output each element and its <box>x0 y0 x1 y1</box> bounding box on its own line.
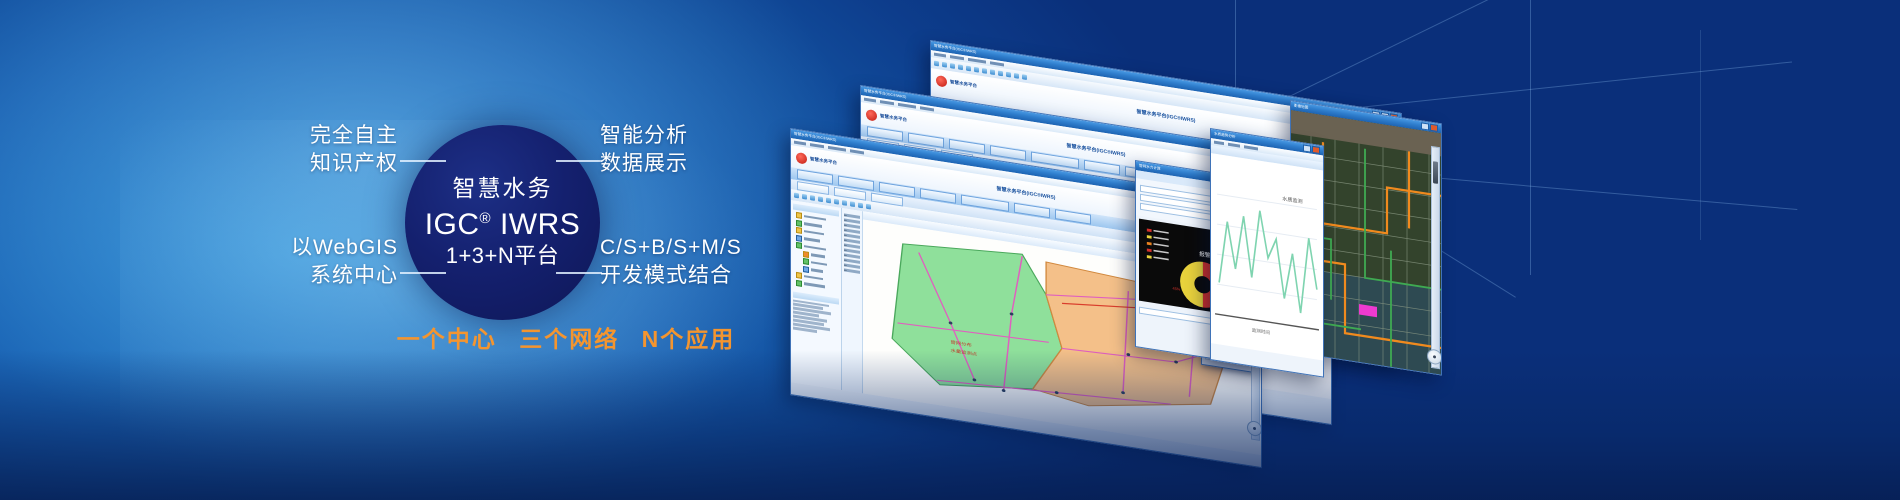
feature-bottom-right: C/S+B/S+M/S 开发模式结合 <box>600 234 742 291</box>
feature-top-left-line2: 知识产权 <box>228 150 398 178</box>
brand-name: 智慧水务平台 <box>810 156 837 166</box>
chart-title: 水质监测 <box>1282 195 1302 205</box>
brand-name: 智慧水务平台 <box>880 113 907 123</box>
feature-bottom-left-line2: 系统中心 <box>228 262 398 290</box>
company-logo-icon <box>796 151 807 164</box>
feature-bottom-left-line1: 以WebGIS <box>228 234 398 262</box>
screenshot-stack: 智慧水务平台(IGC®IWRS) 智慧水务平台 智慧水务平台(IGC®IWRS) <box>790 40 1510 370</box>
company-logo-icon <box>936 74 947 87</box>
core-line-1: 智慧水务 <box>453 176 553 202</box>
line-chart: 水质监测 监测时间 <box>1211 153 1323 360</box>
connector-line-top-left <box>400 160 446 162</box>
tagline-part-1: 一个中心 <box>397 326 497 352</box>
titlebar-text: 影像地图 <box>1294 104 1308 111</box>
feature-bottom-left: 以WebGIS 系统中心 <box>228 234 398 291</box>
brand-name: 智慧水务平台 <box>950 79 977 89</box>
connector-line-bottom-left <box>400 272 446 274</box>
chart-axis-x <box>1215 314 1319 330</box>
property-panel <box>793 291 839 336</box>
tagline-part-3: N个应用 <box>642 326 736 352</box>
feature-top-left: 完全自主 知识产权 <box>228 122 398 179</box>
core-line-2: IGC® IWRS <box>425 208 581 242</box>
tagline: 一个中心 三个网络 N个应用 <box>356 320 776 354</box>
feature-top-right: 智能分析 数据展示 <box>600 122 688 179</box>
chart-series-line <box>1219 204 1317 315</box>
perspective-gridline-vertical-3 <box>1700 30 1701 240</box>
chart-xlabel: 监测时间 <box>1252 327 1271 337</box>
core-igc-text: IGC <box>425 208 480 241</box>
core-logo-circle: 智慧水务 IGC® IWRS 1+3+N平台 <box>405 125 600 320</box>
connector-line-top-right <box>556 160 602 162</box>
feature-bottom-right-line2: 开发模式结合 <box>600 262 742 290</box>
core-line-3: 1+3+N平台 <box>446 244 560 269</box>
app-title: 智慧水务平台(IGC®IWRS) <box>1067 142 1126 158</box>
window-chart-line[interactable]: 水质趋势分析 水质监测 监测时间 <box>1210 128 1324 378</box>
feature-bottom-right-line1: C/S+B/S+M/S <box>600 234 742 262</box>
scrollbar-thumb <box>1433 161 1438 184</box>
connector-line-bottom-right <box>556 272 602 274</box>
company-logo-icon <box>866 108 877 121</box>
line-chart-panel: 水质监测 监测时间 <box>1211 153 1323 360</box>
map-scrollbar[interactable] <box>1431 146 1440 369</box>
gis-tool-strip[interactable] <box>842 208 863 393</box>
core-iwrs-text: IWRS <box>500 208 580 241</box>
feature-top-right-line2: 数据展示 <box>600 150 688 178</box>
layer-tree-panel[interactable] <box>791 200 842 390</box>
perspective-gridline-vertical-2 <box>1530 0 1531 275</box>
pie-label-left: 45% <box>1173 287 1181 292</box>
app-title: 智慧水务平台(IGC®IWRS) <box>997 185 1056 201</box>
app-title: 智慧水务平台(IGC®IWRS) <box>1137 108 1196 124</box>
feature-top-right-line1: 智能分析 <box>600 122 688 150</box>
registered-mark-icon: ® <box>480 210 492 227</box>
feature-top-left-line1: 完全自主 <box>228 122 398 150</box>
banner-root: 智慧水务平台(IGC®IWRS) 智慧水务平台 智慧水务平台(IGC®IWRS) <box>0 0 1900 500</box>
tagline-part-2: 三个网络 <box>519 326 619 352</box>
pie-legend <box>1147 229 1169 262</box>
